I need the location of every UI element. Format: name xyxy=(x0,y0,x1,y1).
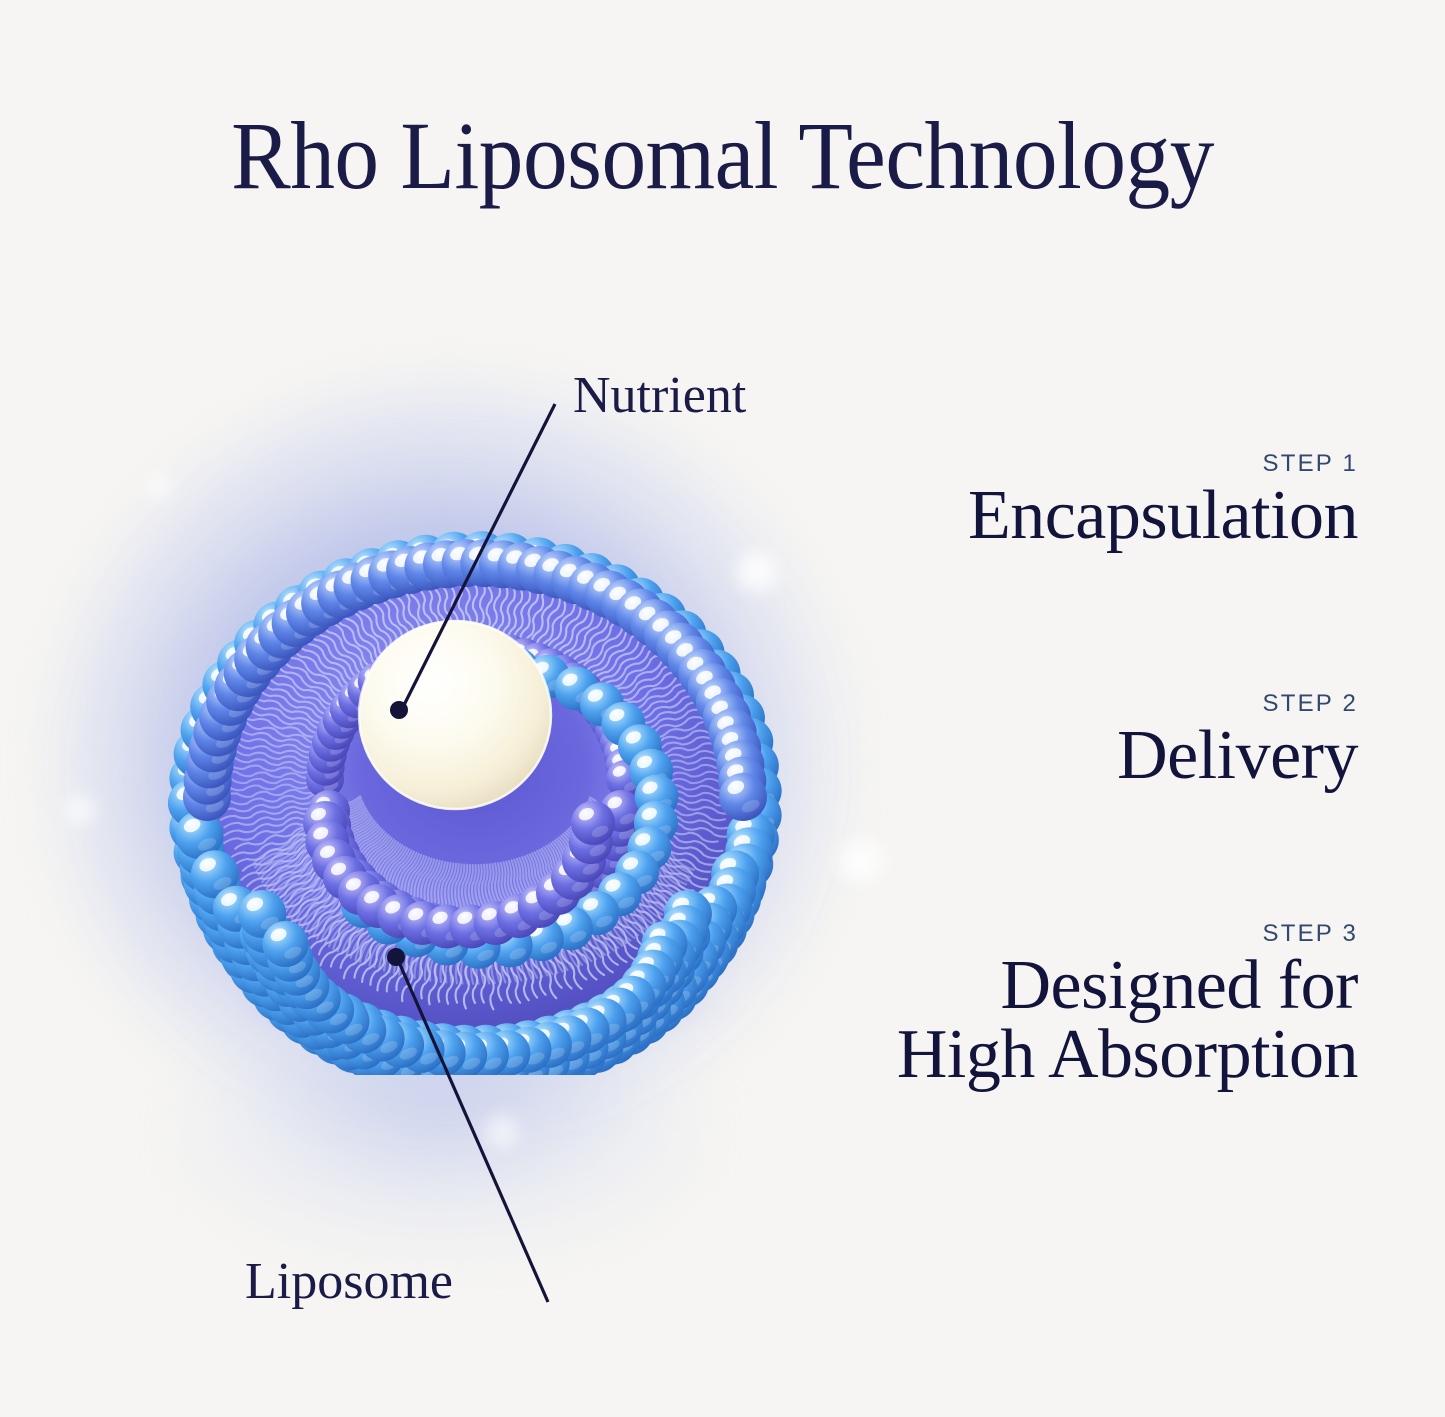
step-2-title-line1: Delivery xyxy=(1117,717,1358,794)
page-title: Rho Liposomal Technology xyxy=(51,108,1395,204)
step-1-title-line1: Encapsulation xyxy=(968,477,1358,554)
bokeh-spot-3 xyxy=(60,790,100,830)
liposomal-technology-infographic: Rho Liposomal Technology xyxy=(0,0,1445,1417)
bokeh-spot-2 xyxy=(832,832,890,890)
bokeh-spot-4 xyxy=(480,1110,524,1154)
step-3-kicker: STEP 3 xyxy=(700,922,1358,946)
step-3-title-line1: Designed for xyxy=(1000,947,1358,1024)
step-item-3: STEP 3 Designed for High Absorption xyxy=(700,922,1358,1089)
step-item-1: STEP 1 Encapsulation xyxy=(700,452,1358,551)
callout-label-liposome: Liposome xyxy=(245,1252,453,1311)
step-1-title: Encapsulation xyxy=(700,482,1358,551)
step-3-title-line2: High Absorption xyxy=(700,1021,1358,1090)
step-2-kicker: STEP 2 xyxy=(700,692,1358,716)
bokeh-spot-5 xyxy=(142,470,176,504)
step-item-2: STEP 2 Delivery xyxy=(700,692,1358,791)
callout-label-nutrient: Nutrient xyxy=(573,366,746,425)
step-1-kicker: STEP 1 xyxy=(700,452,1358,476)
liposome-illustration xyxy=(165,515,785,1075)
step-2-title: Delivery xyxy=(700,722,1358,791)
step-3-title: Designed for High Absorption xyxy=(700,952,1358,1089)
